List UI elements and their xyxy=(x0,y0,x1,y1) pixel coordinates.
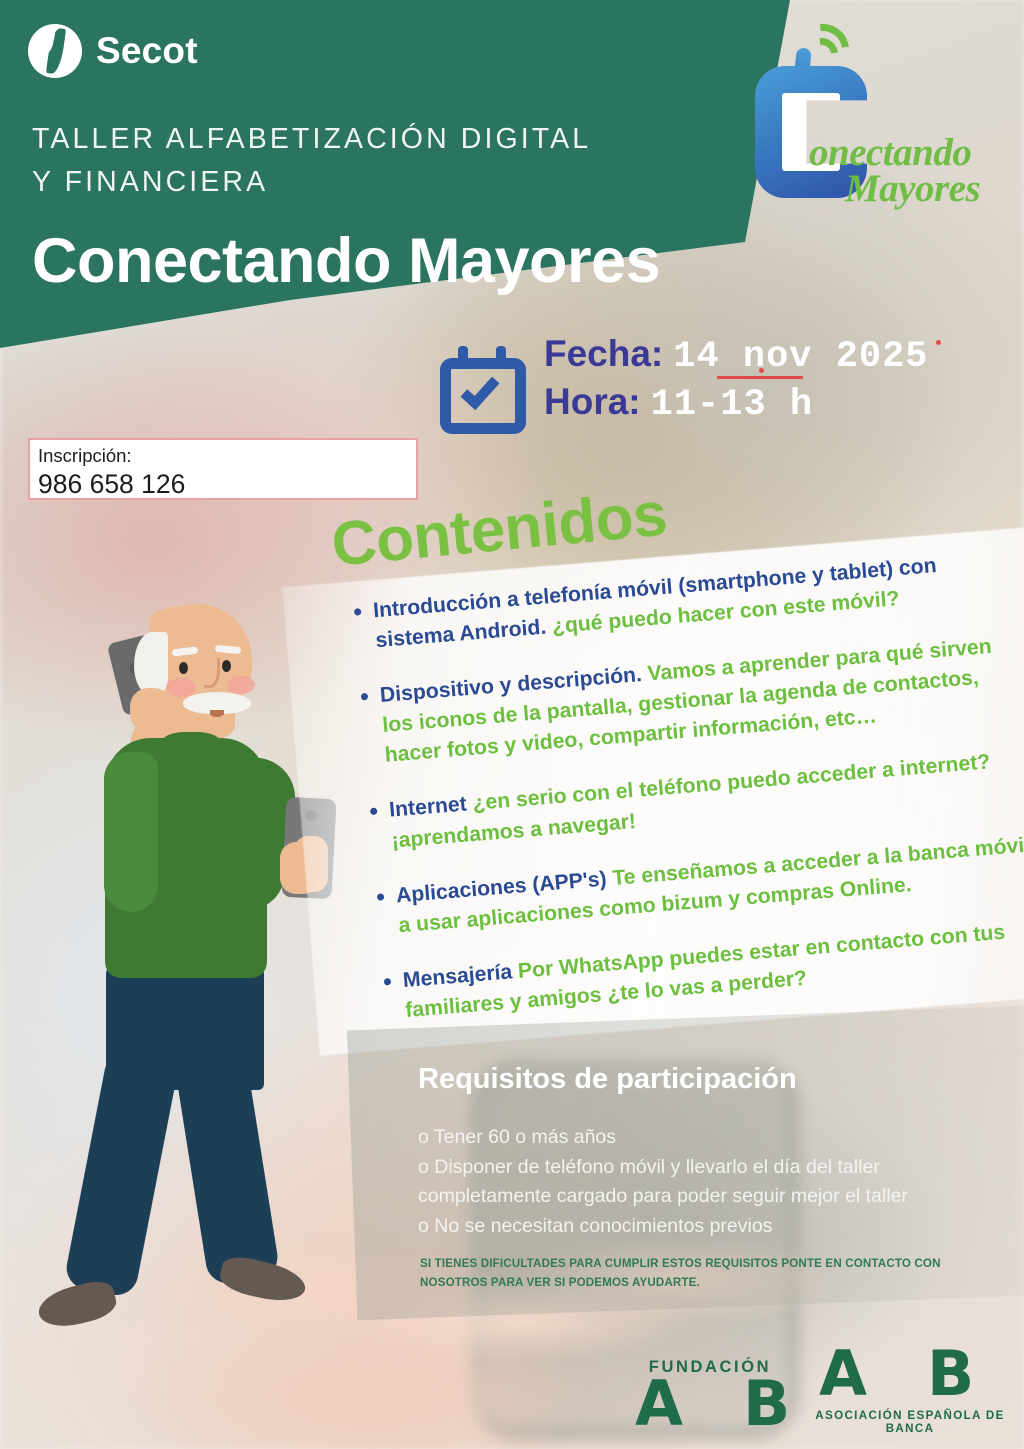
man-bald-top xyxy=(150,606,224,632)
inscription-box[interactable]: Inscripción: 986 658 126 xyxy=(28,438,418,500)
man-eye-left xyxy=(179,662,188,674)
fundacion-aeb-logo: FUNDACIÓN A Β xyxy=(635,1358,785,1436)
list-item-text: Dispositivo y descripción. Vamos a apren… xyxy=(379,629,1024,771)
date-value-text: 14 nov 2025 xyxy=(673,336,928,378)
header-kicker: TALLER ALFABETIZACIÓN DIGITAL Y FINANCIE… xyxy=(32,118,672,205)
man-leg-right xyxy=(175,1060,280,1287)
secot-wordmark: Secot xyxy=(96,30,198,72)
contents-list: • Introducción a telefonía móvil (smartp… xyxy=(352,544,1024,1052)
requirement-item: o Tener 60 o más años xyxy=(418,1123,998,1153)
date-dot-annotation-1 xyxy=(759,368,764,373)
list-item-body: ¿en serio con el teléfono puedo acceder … xyxy=(391,751,991,852)
header-kicker-line2: Y FINANCIERA xyxy=(32,161,672,204)
requirement-item: o Disponer de teléfono móvil y llevarlo … xyxy=(418,1153,998,1212)
time-label: Hora: xyxy=(544,380,641,424)
date-dot-annotation-2 xyxy=(936,340,941,345)
inscription-label: Inscripción: xyxy=(38,445,408,468)
aeb-mark: A Β xyxy=(805,1348,1015,1406)
man-mouth xyxy=(210,710,224,717)
schedule-text: Fecha: 14 nov 2025 Hora: 11-13 h xyxy=(544,332,929,427)
man-hair-side xyxy=(134,632,168,694)
date-label: Fecha: xyxy=(544,332,663,376)
asociacion-aeb-logo: A Β ASOCIACIÓN ESPAÑOLA DE BANCA xyxy=(805,1348,1015,1435)
aeb-letter-b: Β xyxy=(743,1378,790,1430)
aeb-letter-a: A xyxy=(819,1348,867,1400)
man-eye-right xyxy=(222,660,231,672)
schedule-block: Fecha: 14 nov 2025 Hora: 11-13 h xyxy=(440,332,929,434)
man-shoe-right xyxy=(217,1253,309,1307)
requirements-title: Requisitos de participación xyxy=(418,1063,797,1096)
man-shoe-left xyxy=(35,1277,120,1333)
calendar-check-icon xyxy=(440,346,526,434)
poster-canvas: Secot TALLER ALFABETIZACIÓN DIGITAL Y FI… xyxy=(0,0,1024,1449)
aeb-letter-b: Β xyxy=(927,1348,974,1400)
page-title: Conectando Mayores xyxy=(32,225,660,297)
header-kicker-line1: TALLER ALFABETIZACIÓN DIGITAL xyxy=(32,118,672,161)
requirements-list: o Tener 60 o más años o Disponer de telé… xyxy=(418,1123,998,1242)
secot-circle-swirl-icon xyxy=(28,24,82,78)
requirement-item: o No se necesitan conocimientos previos xyxy=(418,1212,998,1242)
schedule-time-row: Hora: 11-13 h xyxy=(544,380,929,428)
man-sleeve-left xyxy=(104,752,158,912)
requirements-note: SI TIENES DIFICULTADES PARA CUMPLIR ESTO… xyxy=(420,1255,980,1292)
program-logo-word2: Mayores xyxy=(845,166,980,211)
list-item-body: Vamos a aprender para qué sirven los ico… xyxy=(382,635,993,767)
aeb-mark: A Β xyxy=(635,1378,785,1436)
man-leg-left xyxy=(63,1061,177,1299)
list-item-lead: Mensajería xyxy=(402,960,513,992)
man-hand-left xyxy=(130,688,176,734)
conectando-mayores-logo: onectando Mayores xyxy=(745,18,1015,218)
date-value: 14 nov 2025 xyxy=(673,336,928,380)
list-item-lead: Internet xyxy=(388,793,467,822)
schedule-date-row: Fecha: 14 nov 2025 xyxy=(544,332,929,380)
date-strike-annotation xyxy=(717,376,803,379)
inscription-phone: 986 658 126 xyxy=(38,468,408,500)
man-cheek-left xyxy=(166,678,196,697)
aeb-letter-a: A xyxy=(635,1378,683,1430)
time-value: 11-13 h xyxy=(651,384,813,428)
aeb-subtitle: ASOCIACIÓN ESPAÑOLA DE BANCA xyxy=(805,1409,1015,1435)
list-item: • Dispositivo y descripción. Vamos a apr… xyxy=(359,629,1024,773)
man-cheek-right xyxy=(227,676,255,694)
secot-logo: Secot xyxy=(28,24,198,78)
